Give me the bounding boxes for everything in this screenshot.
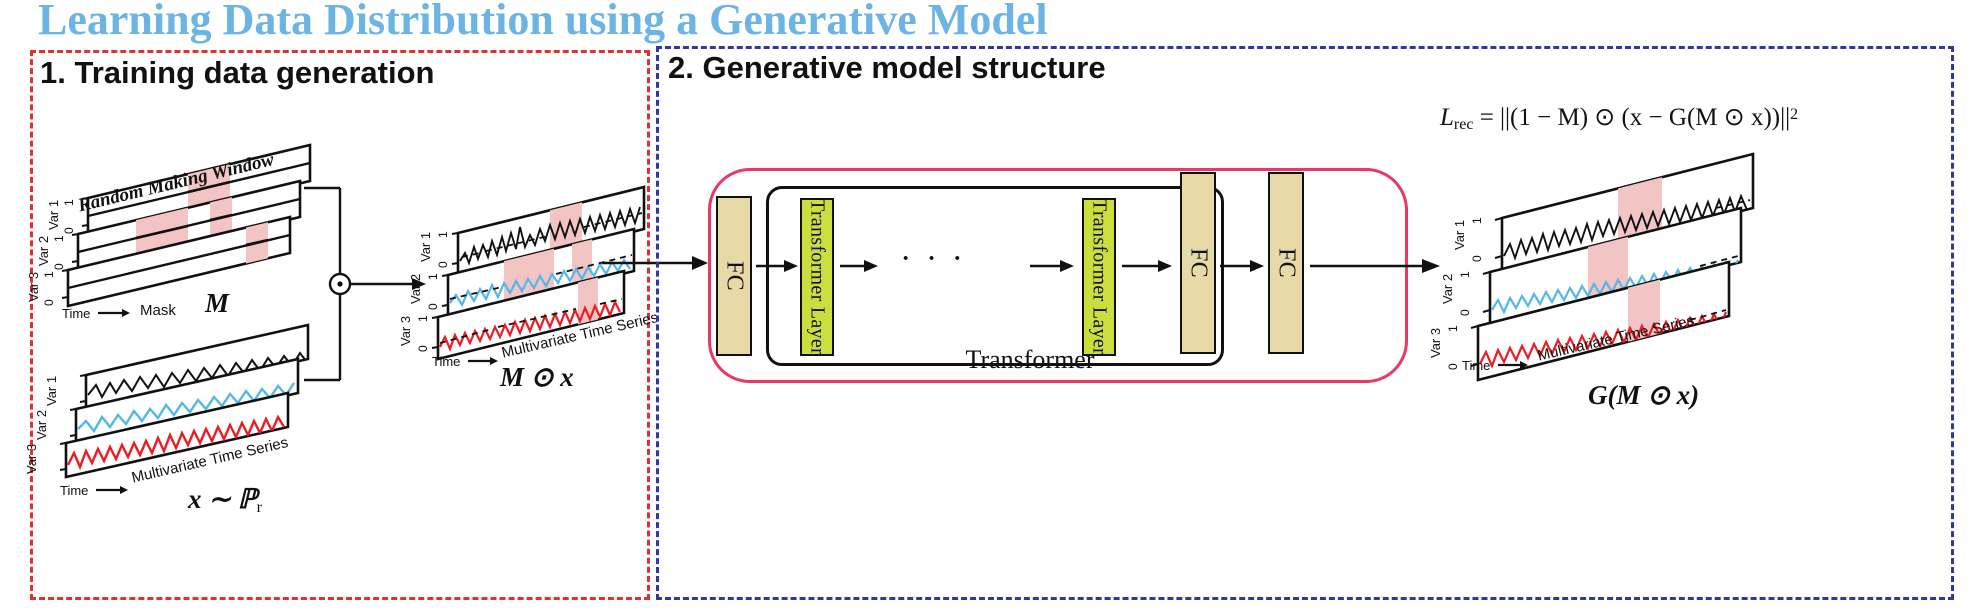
output-x-axis-text: Time (1462, 358, 1490, 373)
masked-x-axis-text: Time (432, 354, 460, 369)
mask-tick-var1-1: 1 (62, 199, 76, 206)
raw-axis-label-var3: Var 3 (24, 444, 39, 474)
fc-block-1[interactable]: FC (716, 196, 752, 356)
fc-block-2-label: FC (1185, 248, 1212, 278)
fc-block-3-label: FC (1273, 248, 1300, 278)
output-tick-var2-1: 1 (1458, 271, 1472, 278)
output-caption-symbol: G(M ⊙ x) (1588, 380, 1699, 411)
output-tick-var1-1: 1 (1470, 217, 1484, 224)
masked-x-axis-arrow: Time (432, 348, 502, 379)
heading-training-data-generation: 1. Training data generation (40, 55, 434, 91)
output-tick-var1-0: 0 (1470, 255, 1484, 262)
loss-exponent: 2 (1790, 106, 1798, 123)
masked-axis-label-var1: Var 1 (418, 232, 433, 262)
mask-axis-label-var2: Var 2 (36, 236, 51, 266)
loss-equation-body: = ||(1 − M) ⊙ (x − G(M ⊙ x))|| (1480, 104, 1790, 131)
fc-block-2[interactable]: FC (1180, 172, 1216, 354)
mask-x-axis-text: Time (62, 306, 90, 321)
arrow-fc3-to-output (1310, 256, 1442, 281)
masked-tick-var2-0: 0 (426, 303, 440, 310)
fc-block-3[interactable]: FC (1268, 172, 1304, 354)
masked-axis-label-var3: Var 3 (398, 316, 413, 346)
mask-caption-text: Mask (140, 302, 176, 319)
mask-tick-var1-0: 0 (62, 227, 76, 234)
masked-tick-var3-1: 1 (416, 315, 430, 322)
masked-tick-var1-0: 0 (436, 261, 450, 268)
transformer-layer-1-label: Transformer Layer (806, 199, 829, 355)
raw-axis-label-var2: Var 2 (34, 410, 49, 440)
page-title: Learning Data Distribution using a Gener… (38, 0, 1438, 44)
transformer-group-label: Transformer (900, 345, 1160, 375)
transformer-layer-block-1[interactable]: Transformer Layer (800, 198, 834, 356)
output-x-axis-arrow: Time (1462, 352, 1532, 383)
ellipsis-between-layers: · · · (900, 240, 966, 278)
loss-equation: Lrec = ||(1 − M) ⊙ (x − G(M ⊙ x))||2 (1440, 102, 1798, 134)
transformer-layer-2-label: Transformer Layer (1088, 199, 1111, 355)
masked-axis-label-var2: Var 2 (408, 274, 423, 304)
raw-x-axis-text: Time (60, 483, 88, 498)
mask-tick-var3-1: 1 (42, 271, 56, 278)
mask-tick-var3-0: 0 (42, 299, 56, 306)
masked-tick-var1-1: 1 (436, 231, 450, 238)
output-axis-label-var2: Var 2 (1440, 274, 1455, 304)
mask-axis-label-var3: Var 3 (26, 272, 41, 302)
masked-caption-symbol: M ⊙ x (500, 362, 574, 393)
transformer-layer-block-2[interactable]: Transformer Layer (1082, 198, 1116, 356)
raw-x-axis-arrow: Time (60, 477, 130, 508)
mask-tick-var2-0: 0 (52, 263, 66, 270)
raw-axis-label-var1: Var 1 (44, 376, 59, 406)
arrow-tf1-to-ellipsis (840, 256, 880, 281)
loss-symbol: L (1440, 104, 1454, 131)
fc-block-1-label: FC (721, 261, 748, 291)
arrow-fc1-to-tf1 (756, 256, 800, 281)
output-axis-label-var3: Var 3 (1428, 328, 1443, 358)
output-tick-var3-1: 1 (1446, 325, 1460, 332)
heading-generative-model-structure: 2. Generative model structure (668, 50, 1106, 86)
loss-subscript: rec (1454, 116, 1474, 133)
arrow-fc2-to-fc3 (1220, 256, 1266, 281)
mask-tick-var2-1: 1 (52, 235, 66, 242)
masked-tick-var2-1: 1 (426, 273, 440, 280)
mask-caption-symbol: M (205, 288, 229, 319)
mask-axis-label-var1: Var 1 (46, 200, 61, 230)
masked-tick-var3-0: 0 (416, 345, 430, 352)
output-axis-label-var1: Var 1 (1452, 220, 1467, 250)
raw-caption-symbol: x ∼ ℙr (188, 484, 262, 517)
arrow-ellipsis-to-tf2 (1030, 256, 1076, 281)
arrow-tf2-to-fc2 (1122, 256, 1174, 281)
output-tick-var3-0: 0 (1446, 363, 1460, 370)
output-tick-var2-0: 0 (1458, 309, 1472, 316)
